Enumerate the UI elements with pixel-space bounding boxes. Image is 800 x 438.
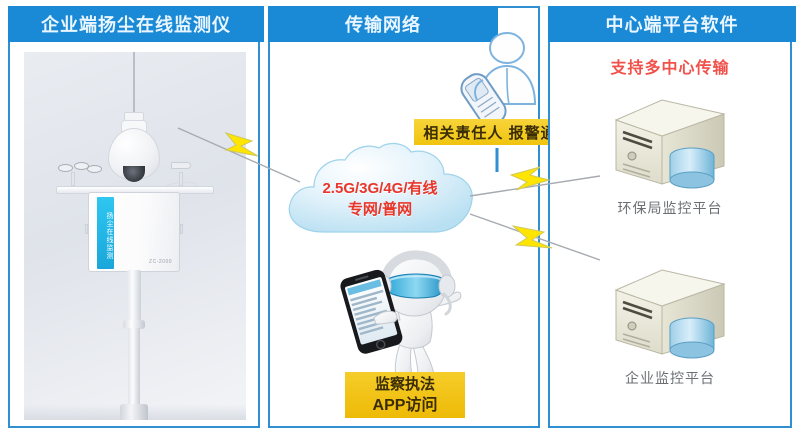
server-label-enterprise: 企业监控平台 xyxy=(550,368,790,388)
panel-enterprise-device: 企业端扬尘在线监测仪 扬尘在线监测 ZC-2000 xyxy=(8,6,260,428)
anemometer-cup-icon xyxy=(87,165,102,173)
app-access-callout: 监察执法 APP访问 xyxy=(345,372,465,418)
server-label-epb: 环保局监控平台 xyxy=(550,198,790,218)
enclosure-clip-right xyxy=(180,224,183,234)
panel-title-right: 中心端平台软件 xyxy=(548,6,796,42)
cloud-text-line1: 2.5G/3G/4G/有线 xyxy=(276,178,484,199)
mascot-with-smartphone-icon xyxy=(340,250,472,382)
diagram-canvas: 企业端扬尘在线监测仪 扬尘在线监测 ZC-2000 xyxy=(0,0,800,433)
app-callout-line2: APP访问 xyxy=(373,395,438,416)
enclosure-clip-left xyxy=(85,224,88,234)
server-group-epb: 环保局监控平台 xyxy=(550,94,790,218)
antenna-mast xyxy=(133,52,135,114)
person-with-flip-phone-icon xyxy=(455,30,551,122)
pole-upper xyxy=(127,270,141,322)
panel-center-platform: 中心端平台软件 支持多中心传输 xyxy=(548,6,792,428)
enclosure-brand-mark: ZC-2000 xyxy=(149,259,172,265)
multi-center-banner: 支持多中心传输 xyxy=(550,54,790,78)
camera-lens-icon xyxy=(123,166,145,182)
wind-vane-icon xyxy=(171,162,191,169)
anemometer-cup-icon xyxy=(58,164,73,172)
cloud-network-text: 2.5G/3G/4G/有线 专网/普网 xyxy=(276,178,484,220)
sensor-arm-left xyxy=(71,172,75,186)
enclosure-label-strip: 扬尘在线监测 xyxy=(97,197,114,269)
app-callout-line1: 监察执法 xyxy=(375,374,435,395)
panel-title-left: 企业端扬尘在线监测仪 xyxy=(8,6,264,42)
server-icon xyxy=(606,94,734,194)
cloud-text-line2: 专网/普网 xyxy=(276,199,484,220)
server-icon xyxy=(606,264,734,364)
device-photo: 扬尘在线监测 ZC-2000 xyxy=(24,52,246,420)
server-group-enterprise: 企业监控平台 xyxy=(550,264,790,388)
cloud-icon: 2.5G/3G/4G/有线 专网/普网 xyxy=(276,140,484,252)
sensor-arm-right xyxy=(179,172,183,186)
device-enclosure: 扬尘在线监测 ZC-2000 xyxy=(88,192,180,272)
pole-base xyxy=(120,404,148,420)
